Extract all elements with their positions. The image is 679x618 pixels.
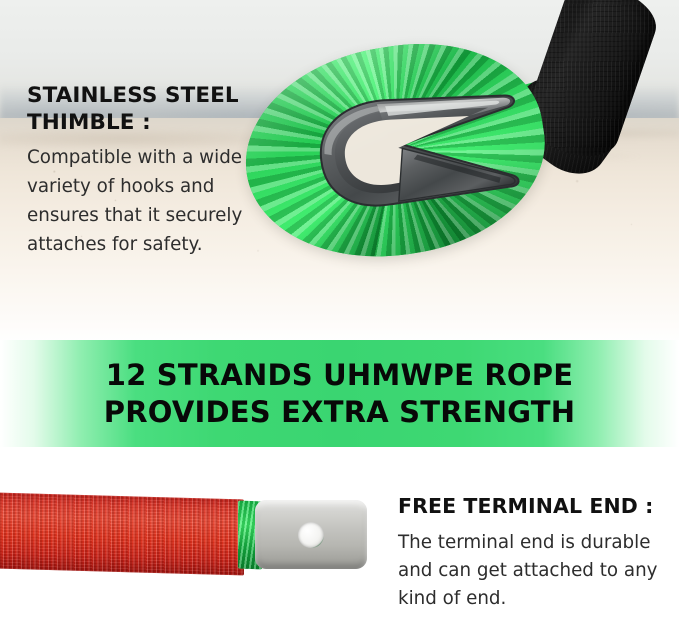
banner-line-2: PROVIDES EXTRA STRENGTH [104, 394, 575, 431]
gray-terminal-end-cap [255, 500, 367, 569]
rope-thimble-photo [225, 0, 679, 302]
banner-line-1: 12 STRANDS UHMWPE ROPE [106, 357, 574, 394]
top-feature-panel: STAINLESS STEEL THIMBLE : Compatible wit… [0, 0, 679, 345]
top-body-text: Compatible with a wide variety of hooks … [27, 143, 273, 259]
red-woven-sleeve [0, 493, 244, 576]
bottom-feature-panel: FREE TERMINAL END : The terminal end is … [0, 447, 679, 618]
green-highlight-banner: 12 STRANDS UHMWPE ROPE PROVIDES EXTRA ST… [0, 340, 679, 447]
product-infographic: STAINLESS STEEL THIMBLE : Compatible wit… [0, 0, 679, 618]
thimble-svg [279, 70, 532, 236]
bottom-headline: FREE TERMINAL END : [398, 493, 666, 519]
stainless-steel-thimble [279, 70, 532, 236]
terminal-end-photo [0, 494, 366, 576]
top-headline: STAINLESS STEEL THIMBLE : [27, 82, 273, 136]
terminal-cap-hole [298, 522, 324, 548]
bottom-body-text: The terminal end is durable and can get … [398, 529, 666, 613]
bottom-text-block: FREE TERMINAL END : The terminal end is … [398, 493, 666, 613]
top-text-block: STAINLESS STEEL THIMBLE : Compatible wit… [27, 82, 273, 259]
